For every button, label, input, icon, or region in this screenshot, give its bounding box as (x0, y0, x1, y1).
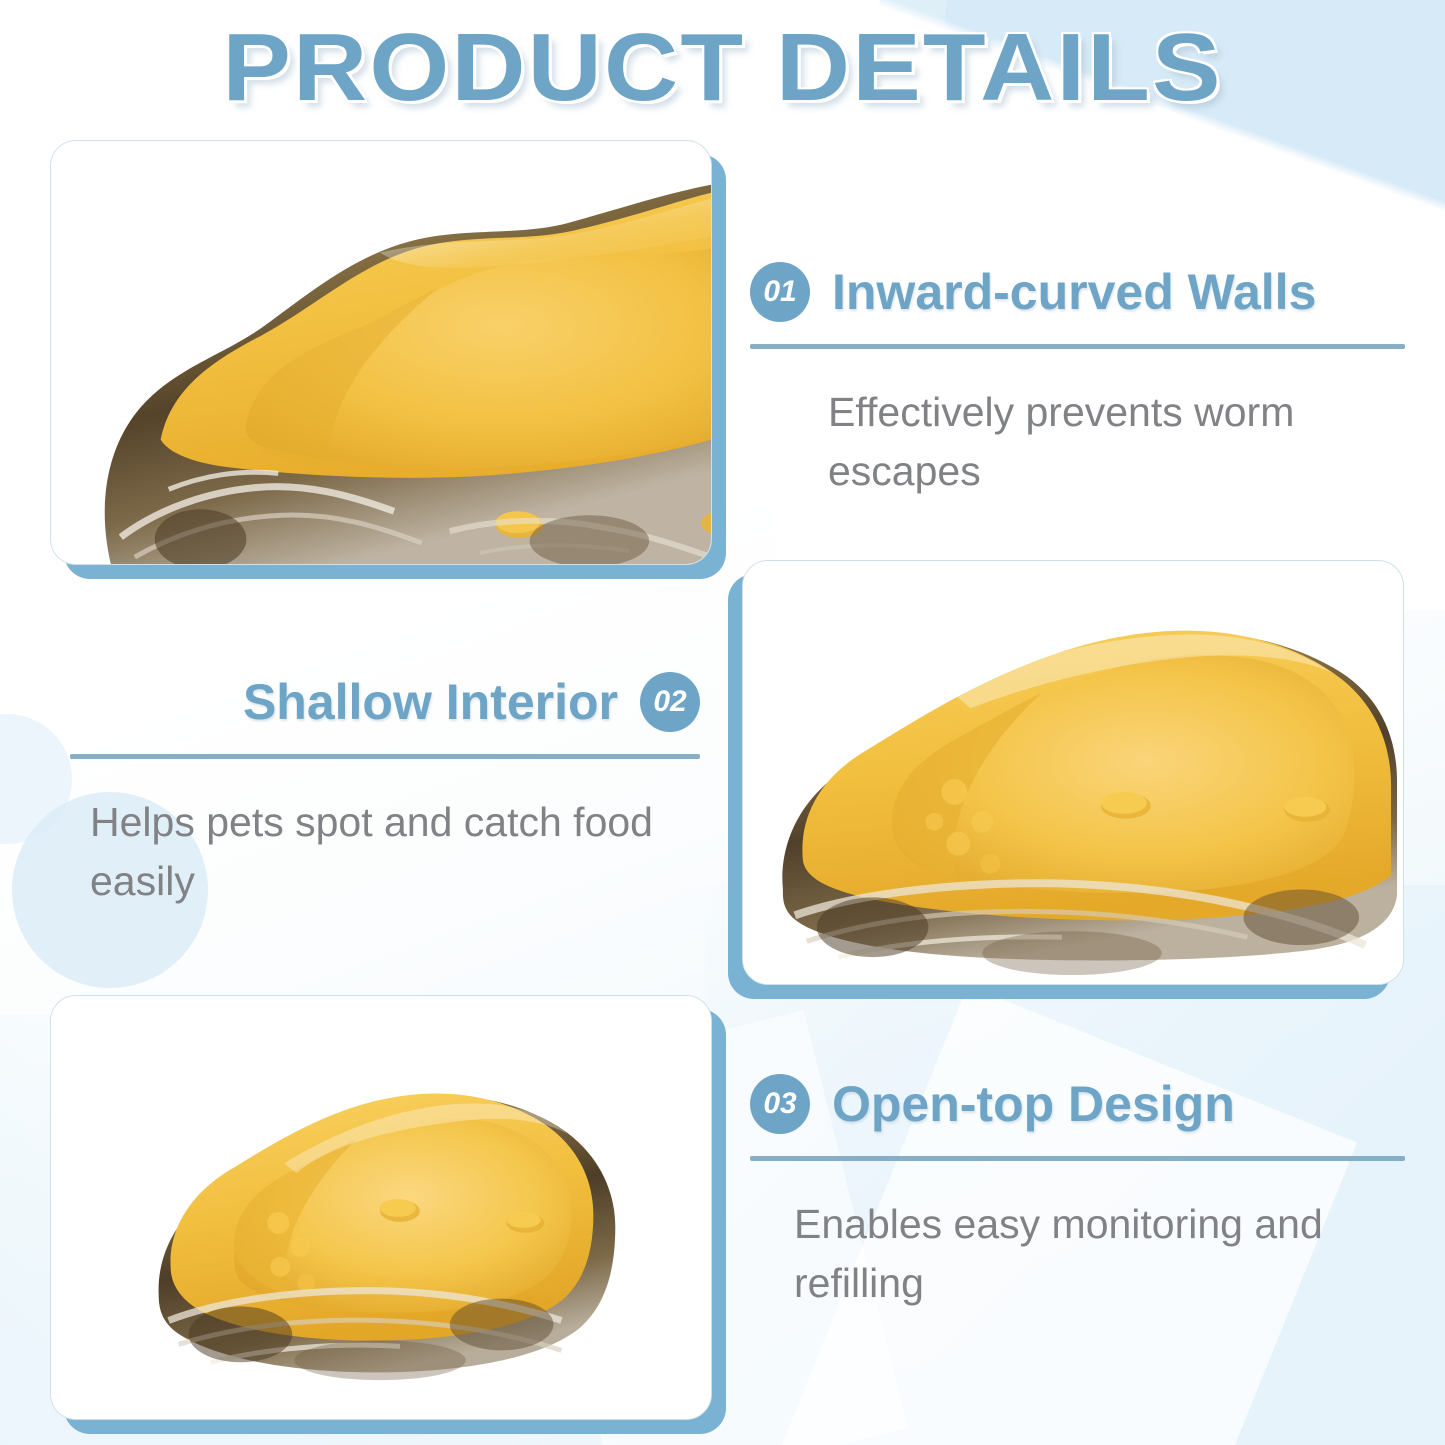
feature-2-heading-row: Shallow Interior 02 (70, 672, 700, 732)
feature-block-1: 01 Inward-curved Walls Effectively preve… (750, 262, 1410, 502)
feature-3-divider (750, 1156, 1405, 1161)
feature-3-number-badge: 03 (750, 1074, 810, 1134)
feature-2-divider (70, 754, 700, 759)
photo-card-inward-curved-walls (50, 140, 712, 565)
product-photo-angled-view (51, 996, 711, 1419)
feature-3-heading-row: 03 Open-top Design (750, 1074, 1410, 1134)
feature-block-2: Shallow Interior 02 Helps pets spot and … (70, 672, 700, 912)
product-photo-top-view (51, 141, 711, 564)
photo-card-shallow-interior (742, 560, 1404, 985)
feature-2-number-badge: 02 (640, 672, 700, 732)
product-details-page: PRODUCT DETAILS (0, 0, 1445, 1445)
feature-3-title: Open-top Design (832, 1078, 1235, 1131)
product-photo-front-view (743, 561, 1403, 984)
feature-1-body: Effectively prevents worm escapes (750, 383, 1350, 502)
feature-1-title: Inward-curved Walls (832, 266, 1316, 319)
feature-1-heading-row: 01 Inward-curved Walls (750, 262, 1410, 322)
feature-1-number-badge: 01 (750, 262, 810, 322)
feature-3-body: Enables easy monitoring and refilling (750, 1195, 1350, 1314)
feature-2-title: Shallow Interior (243, 676, 618, 729)
decorative-circle-left-outer (0, 714, 72, 844)
photo-card-open-top-design (50, 995, 712, 1420)
feature-1-divider (750, 344, 1405, 349)
feature-2-body: Helps pets spot and catch food easily (70, 793, 670, 912)
page-title: PRODUCT DETAILS (0, 16, 1445, 120)
feature-block-3: 03 Open-top Design Enables easy monitori… (750, 1074, 1410, 1314)
